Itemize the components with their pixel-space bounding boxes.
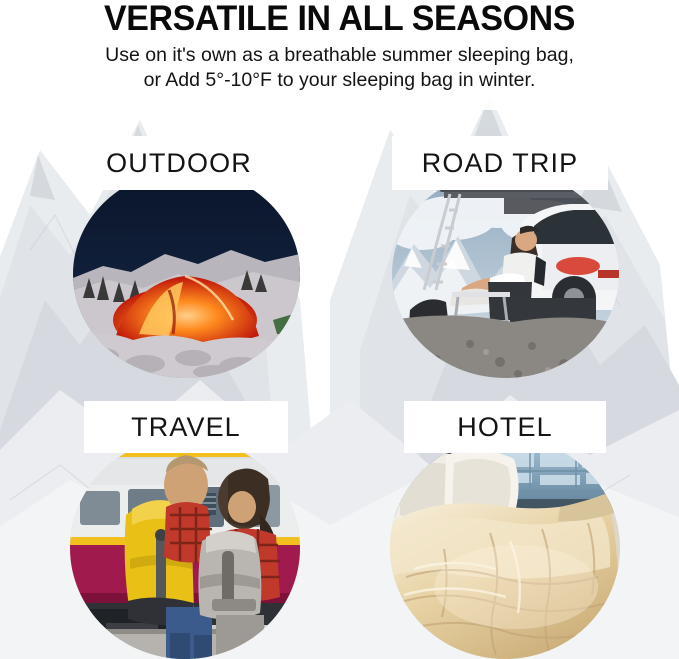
photo-outdoor-red-tent bbox=[73, 170, 300, 378]
photo-travel-train-backpackers bbox=[70, 437, 300, 659]
label-outdoor-text: OUTDOOR bbox=[106, 148, 252, 179]
label-hotel-text: HOTEL bbox=[457, 412, 553, 443]
header: VERSATILE IN ALL SEASONS Use on it's own… bbox=[0, 0, 679, 92]
photo-road-trip-car-camp bbox=[392, 170, 619, 378]
label-travel-text: TRAVEL bbox=[131, 412, 241, 443]
label-road-trip-text: ROAD TRIP bbox=[422, 148, 578, 179]
photo-hotel-bed bbox=[390, 437, 620, 659]
page-title: VERSATILE IN ALL SEASONS bbox=[10, 1, 669, 37]
label-box-outdoor: OUTDOOR bbox=[70, 136, 288, 190]
subtitle-line-2: or Add 5°-10°F to your sleeping bag in w… bbox=[0, 68, 679, 92]
subtitle-line-1: Use on it's own as a breathable summer s… bbox=[0, 43, 679, 67]
infographic-page: VERSATILE IN ALL SEASONS Use on it's own… bbox=[0, 0, 679, 659]
label-box-hotel: HOTEL bbox=[404, 401, 606, 453]
label-box-travel: TRAVEL bbox=[84, 401, 288, 453]
label-box-road-trip: ROAD TRIP bbox=[392, 136, 608, 190]
